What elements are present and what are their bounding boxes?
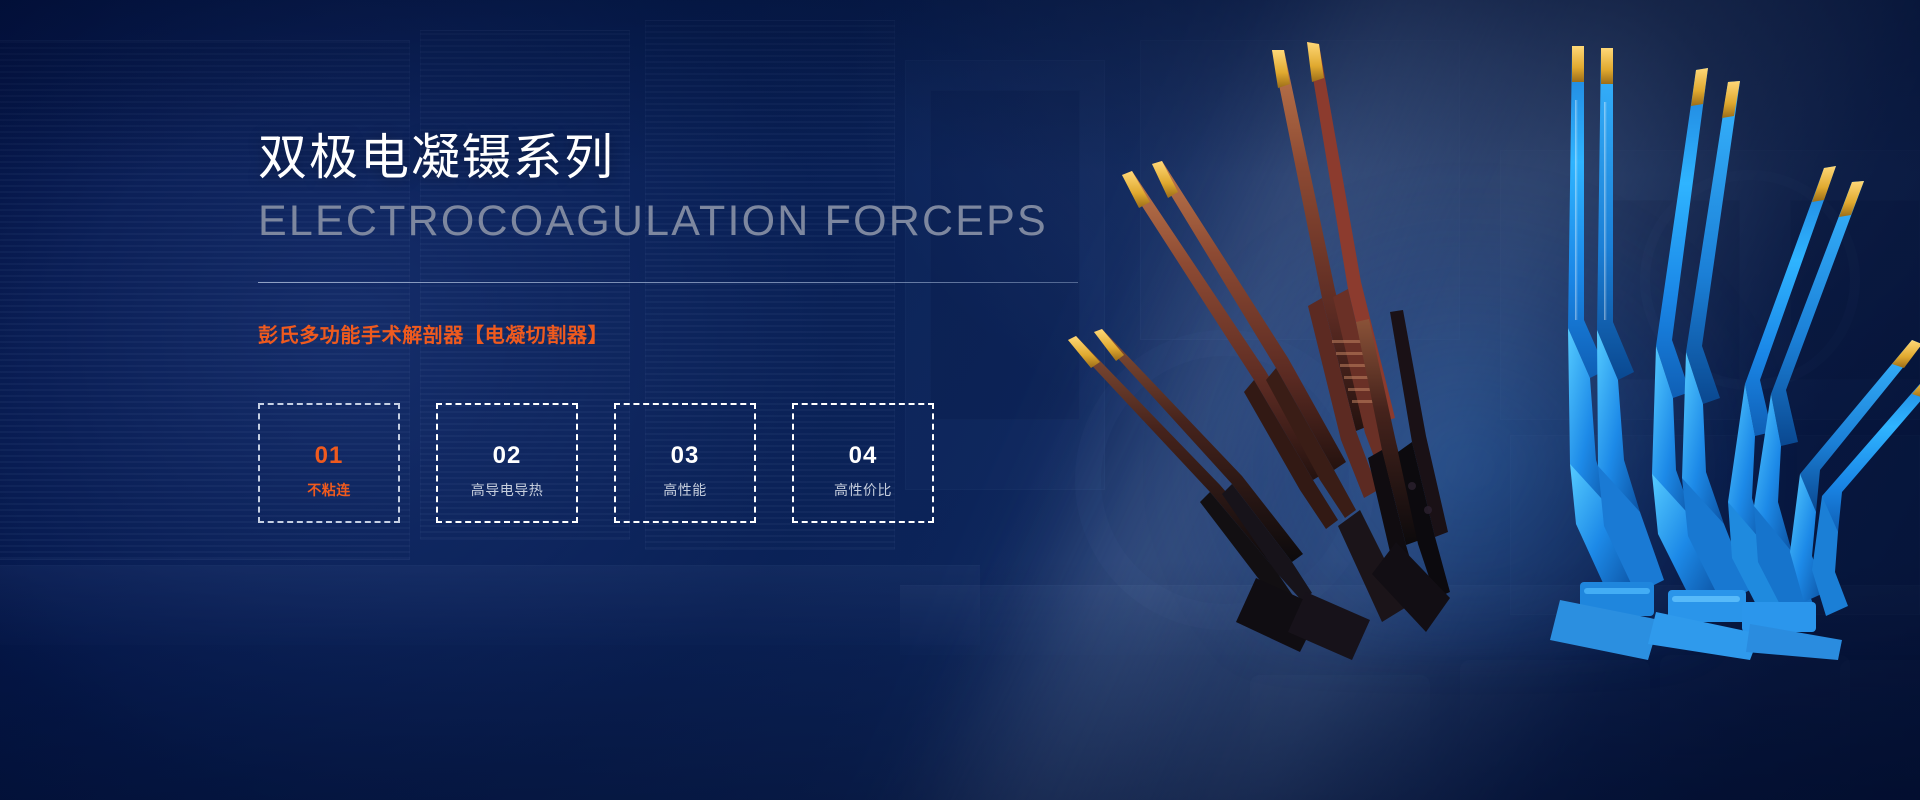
feature-number: 01 xyxy=(315,444,344,468)
feature-label: 高导电导热 xyxy=(471,483,544,497)
feature-label: 高性价比 xyxy=(834,483,892,497)
feature-label: 不粘连 xyxy=(307,483,351,497)
feature-box-list: 01 不粘连 02 高导电导热 03 高性能 04 高性价比 xyxy=(258,403,1098,523)
feature-box-01[interactable]: 01 不粘连 xyxy=(258,403,400,523)
page-title: 双极电凝镊系列 xyxy=(258,130,1098,188)
page-subtitle-en: ELECTROCOAGULATION FORCEPS xyxy=(258,198,1098,245)
feature-number: 03 xyxy=(671,444,700,468)
product-banner: 双极电凝镊系列 ELECTROCOAGULATION FORCEPS 彭氏多功能… xyxy=(0,0,1920,800)
feature-box-02[interactable]: 02 高导电导热 xyxy=(436,403,578,523)
divider xyxy=(258,282,1078,283)
feature-number: 04 xyxy=(849,444,878,468)
banner-content: 双极电凝镊系列 ELECTROCOAGULATION FORCEPS 彭氏多功能… xyxy=(258,130,1098,523)
feature-number: 02 xyxy=(493,444,522,468)
feature-box-04[interactable]: 04 高性价比 xyxy=(792,403,934,523)
feature-box-03[interactable]: 03 高性能 xyxy=(614,403,756,523)
forceps-blue-group xyxy=(1550,46,1920,660)
forceps-bronze-group xyxy=(1068,42,1450,660)
forceps-artwork xyxy=(1060,40,1920,660)
product-tagline: 彭氏多功能手术解剖器【电凝切割器】 xyxy=(258,322,1098,350)
feature-label: 高性能 xyxy=(663,483,707,497)
